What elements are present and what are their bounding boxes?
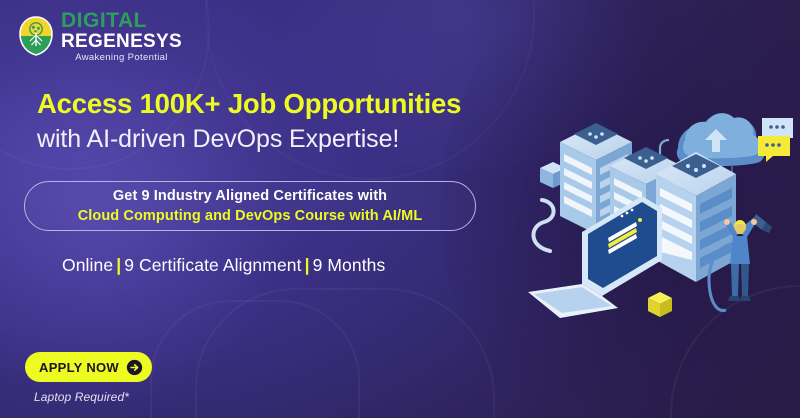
arrow-right-circle-icon: [126, 359, 143, 376]
brand-name-regenesys: REGENESYS: [61, 32, 182, 51]
brand-name-digital: DIGITAL: [61, 10, 182, 31]
laptop-required-note: Laptop Required*: [34, 390, 129, 404]
meta-separator: |: [302, 255, 313, 275]
promo-banner: DIGITAL REGENESYS Awakening Potential Ac…: [0, 0, 800, 418]
tree-shield-emblem-icon: [18, 16, 54, 56]
brand-wordmark: DIGITAL REGENESYS Awakening Potential: [61, 10, 182, 63]
illustration-svg: [500, 96, 800, 326]
brand-tagline: Awakening Potential: [61, 53, 182, 63]
certificates-callout-line-1: Get 9 Industry Aligned Certificates with: [113, 187, 387, 205]
meta-certificates: 9 Certificate Alignment: [124, 255, 301, 275]
course-meta: Online|9 Certificate Alignment|9 Months: [62, 255, 385, 276]
cube-icon: [648, 292, 672, 317]
cable-icon: [533, 200, 553, 251]
certificates-callout-line-2: Cloud Computing and DevOps Course with A…: [78, 207, 423, 225]
watermark-cloud-icon: [150, 300, 360, 418]
isometric-cloud-datacenter-illustration: [500, 96, 800, 326]
meta-mode: Online: [62, 255, 113, 275]
server-rack-icon: [656, 152, 736, 282]
brand-logo[interactable]: DIGITAL REGENESYS Awakening Potential: [18, 10, 182, 63]
apply-now-button[interactable]: APPLY NOW: [25, 352, 152, 382]
headline-secondary: with AI-driven DevOps Expertise!: [37, 124, 507, 154]
apply-now-label: APPLY NOW: [39, 360, 119, 375]
certificates-callout: Get 9 Industry Aligned Certificates with…: [24, 181, 476, 231]
headline-block: Access 100K+ Job Opportunities with AI-d…: [37, 88, 507, 154]
meta-duration: 9 Months: [313, 255, 386, 275]
headline-primary: Access 100K+ Job Opportunities: [37, 88, 507, 120]
meta-separator: |: [113, 255, 124, 275]
watermark-cloud-icon: [195, 288, 495, 418]
